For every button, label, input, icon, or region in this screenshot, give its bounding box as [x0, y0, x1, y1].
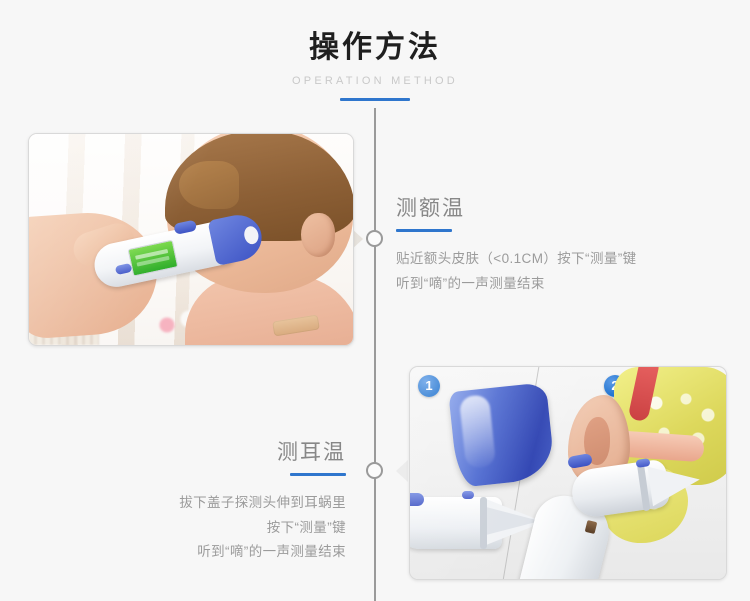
step-badge-1: 1: [418, 375, 440, 397]
callout-arrow-ear-icon: [396, 460, 408, 482]
timeline-node-forehead: [366, 230, 383, 247]
forehead-photo: [29, 134, 353, 345]
baby-ear: [301, 213, 335, 257]
ear-heading-underline: [290, 473, 346, 476]
thermometer1-blue-accent: [409, 493, 424, 506]
thermometer2-blue-accent: [567, 453, 593, 469]
forehead-desc-line-1: 贴近额头皮肤（<0.1CM）按下“测量”键: [396, 251, 637, 266]
forehead-image-card: [28, 133, 354, 346]
thermometer1-switch: [462, 491, 474, 499]
ear-thermometer-uncapped: [409, 477, 534, 557]
page-header: 操作方法 OPERATION METHOD: [0, 30, 750, 101]
timeline-line: [374, 108, 376, 601]
thermometer2-probe-tip: [647, 460, 702, 507]
page-title: 操作方法: [0, 30, 750, 66]
ear-description: 拔下盖子探测头伸到耳蜗里 按下“测量”键 听到“嘀”的一声测量结束: [24, 491, 346, 565]
ear-desc-line-2: 按下“测量”键: [267, 520, 346, 535]
ear-desc-line-3: 听到“嘀”的一声测量结束: [197, 544, 346, 559]
thermometer1-ring: [480, 497, 487, 549]
page-subtitle: OPERATION METHOD: [0, 75, 750, 87]
forehead-text-block: 测额温 贴近额头皮肤（<0.1CM）按下“测量”键 听到“嘀”的一声测量结束: [396, 196, 726, 296]
operation-method-page: 操作方法 OPERATION METHOD: [0, 0, 750, 601]
timeline-node-ear: [366, 462, 383, 479]
forehead-heading-underline: [396, 229, 452, 232]
ear-heading: 测耳温: [24, 440, 346, 466]
ear-desc-line-1: 拔下盖子探测头伸到耳蜗里: [179, 495, 346, 510]
forehead-description: 贴近额头皮肤（<0.1CM）按下“测量”键 听到“嘀”的一声测量结束: [396, 247, 726, 296]
ear-thermometer-inserted: [528, 459, 718, 580]
forehead-desc-line-2: 听到“嘀”的一声测量结束: [396, 276, 545, 291]
ear-image-card: 1 2: [409, 366, 727, 580]
forehead-heading: 测额温: [396, 196, 726, 222]
ear-text-block: 测耳温 拔下盖子探测头伸到耳蜗里 按下“测量”键 听到“嘀”的一声测量结束: [24, 440, 346, 565]
title-underline: [340, 98, 410, 101]
ear-illustration: 1 2: [410, 367, 726, 579]
